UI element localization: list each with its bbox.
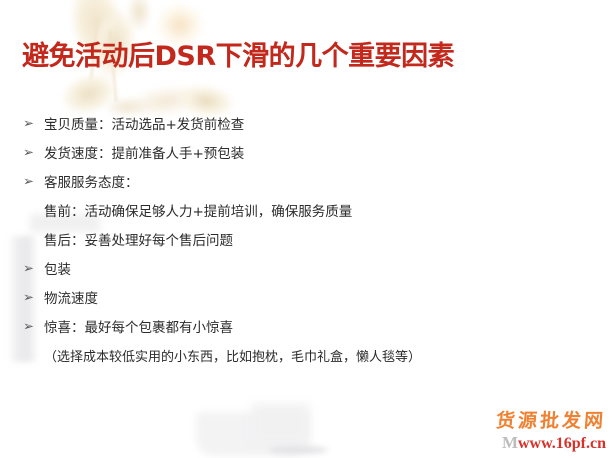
sub-list-item: 售后：妥善处理好每个售后问题	[0, 224, 614, 253]
list-item: ➢ 客服服务态度：	[0, 166, 614, 195]
bottom-grey-shape	[252, 404, 310, 444]
watermark-url-line: Mwww.16pf.cn	[496, 434, 606, 452]
note-label: （选择成本较低实用的小东西，比如抱枕，毛巾礼盒，懒人毯等）	[44, 346, 421, 365]
sub-list-item: 售前：活动确保足够人力+提前培训，确保服务质量	[0, 195, 614, 224]
watermark-brand: 货源批发网	[495, 411, 606, 432]
list-item-label: 物流速度	[44, 287, 98, 307]
sub-list-item: （选择成本较低实用的小东西，比如抱枕，毛巾礼盒，懒人毯等）	[0, 340, 614, 370]
list-item-label: 惊喜：最好每个包裹都有小惊喜	[44, 316, 233, 336]
sub-list-item-label: 售前：活动确保足够人力+提前培训，确保服务质量	[44, 200, 352, 220]
bottom-grey-shape	[196, 412, 308, 456]
list-item-label: 发货速度：提前准备人手+预包装	[44, 142, 244, 162]
page-title: 避免活动后DSR下滑的几个重要因素	[22, 34, 454, 73]
list-item: ➢ 物流速度	[0, 282, 614, 311]
list-item: ➢ 宝贝质量：活动选品+发货前检查	[0, 108, 614, 137]
sub-list-item-label: 售后：妥善处理好每个售后问题	[44, 229, 233, 249]
flower-blob-icon	[126, 0, 152, 32]
arrow-bullet-icon: ➢	[23, 145, 37, 158]
list-item: ➢ 包装	[0, 253, 614, 282]
list-item: ➢ 发货速度：提前准备人手+预包装	[0, 137, 614, 166]
arrow-bullet-icon: ➢	[23, 261, 37, 274]
slide-canvas: 避免活动后DSR下滑的几个重要因素 ➢ 宝贝质量：活动选品+发货前检查 ➢ 发货…	[0, 0, 614, 458]
list-item: ➢ 惊喜：最好每个包裹都有小惊喜	[0, 311, 614, 340]
arrow-bullet-icon: ➢	[23, 319, 37, 332]
bullet-list: ➢ 宝贝质量：活动选品+发货前检查 ➢ 发货速度：提前准备人手+预包装 ➢ 客服…	[0, 108, 614, 370]
list-item-label: 包装	[44, 258, 71, 278]
list-item-label: 宝贝质量：活动选品+发货前检查	[44, 113, 244, 133]
watermark-url: www.16pf.cn	[518, 435, 606, 452]
arrow-bullet-icon: ➢	[23, 116, 37, 129]
list-item-label: 客服服务态度：	[44, 171, 139, 191]
watermark: 货源批发网 Mwww.16pf.cn	[496, 411, 606, 452]
bottom-shadow	[268, 446, 328, 454]
arrow-bullet-icon: ➢	[23, 174, 37, 187]
watermark-prefix: M	[502, 433, 518, 452]
arrow-bullet-icon: ➢	[23, 290, 37, 303]
